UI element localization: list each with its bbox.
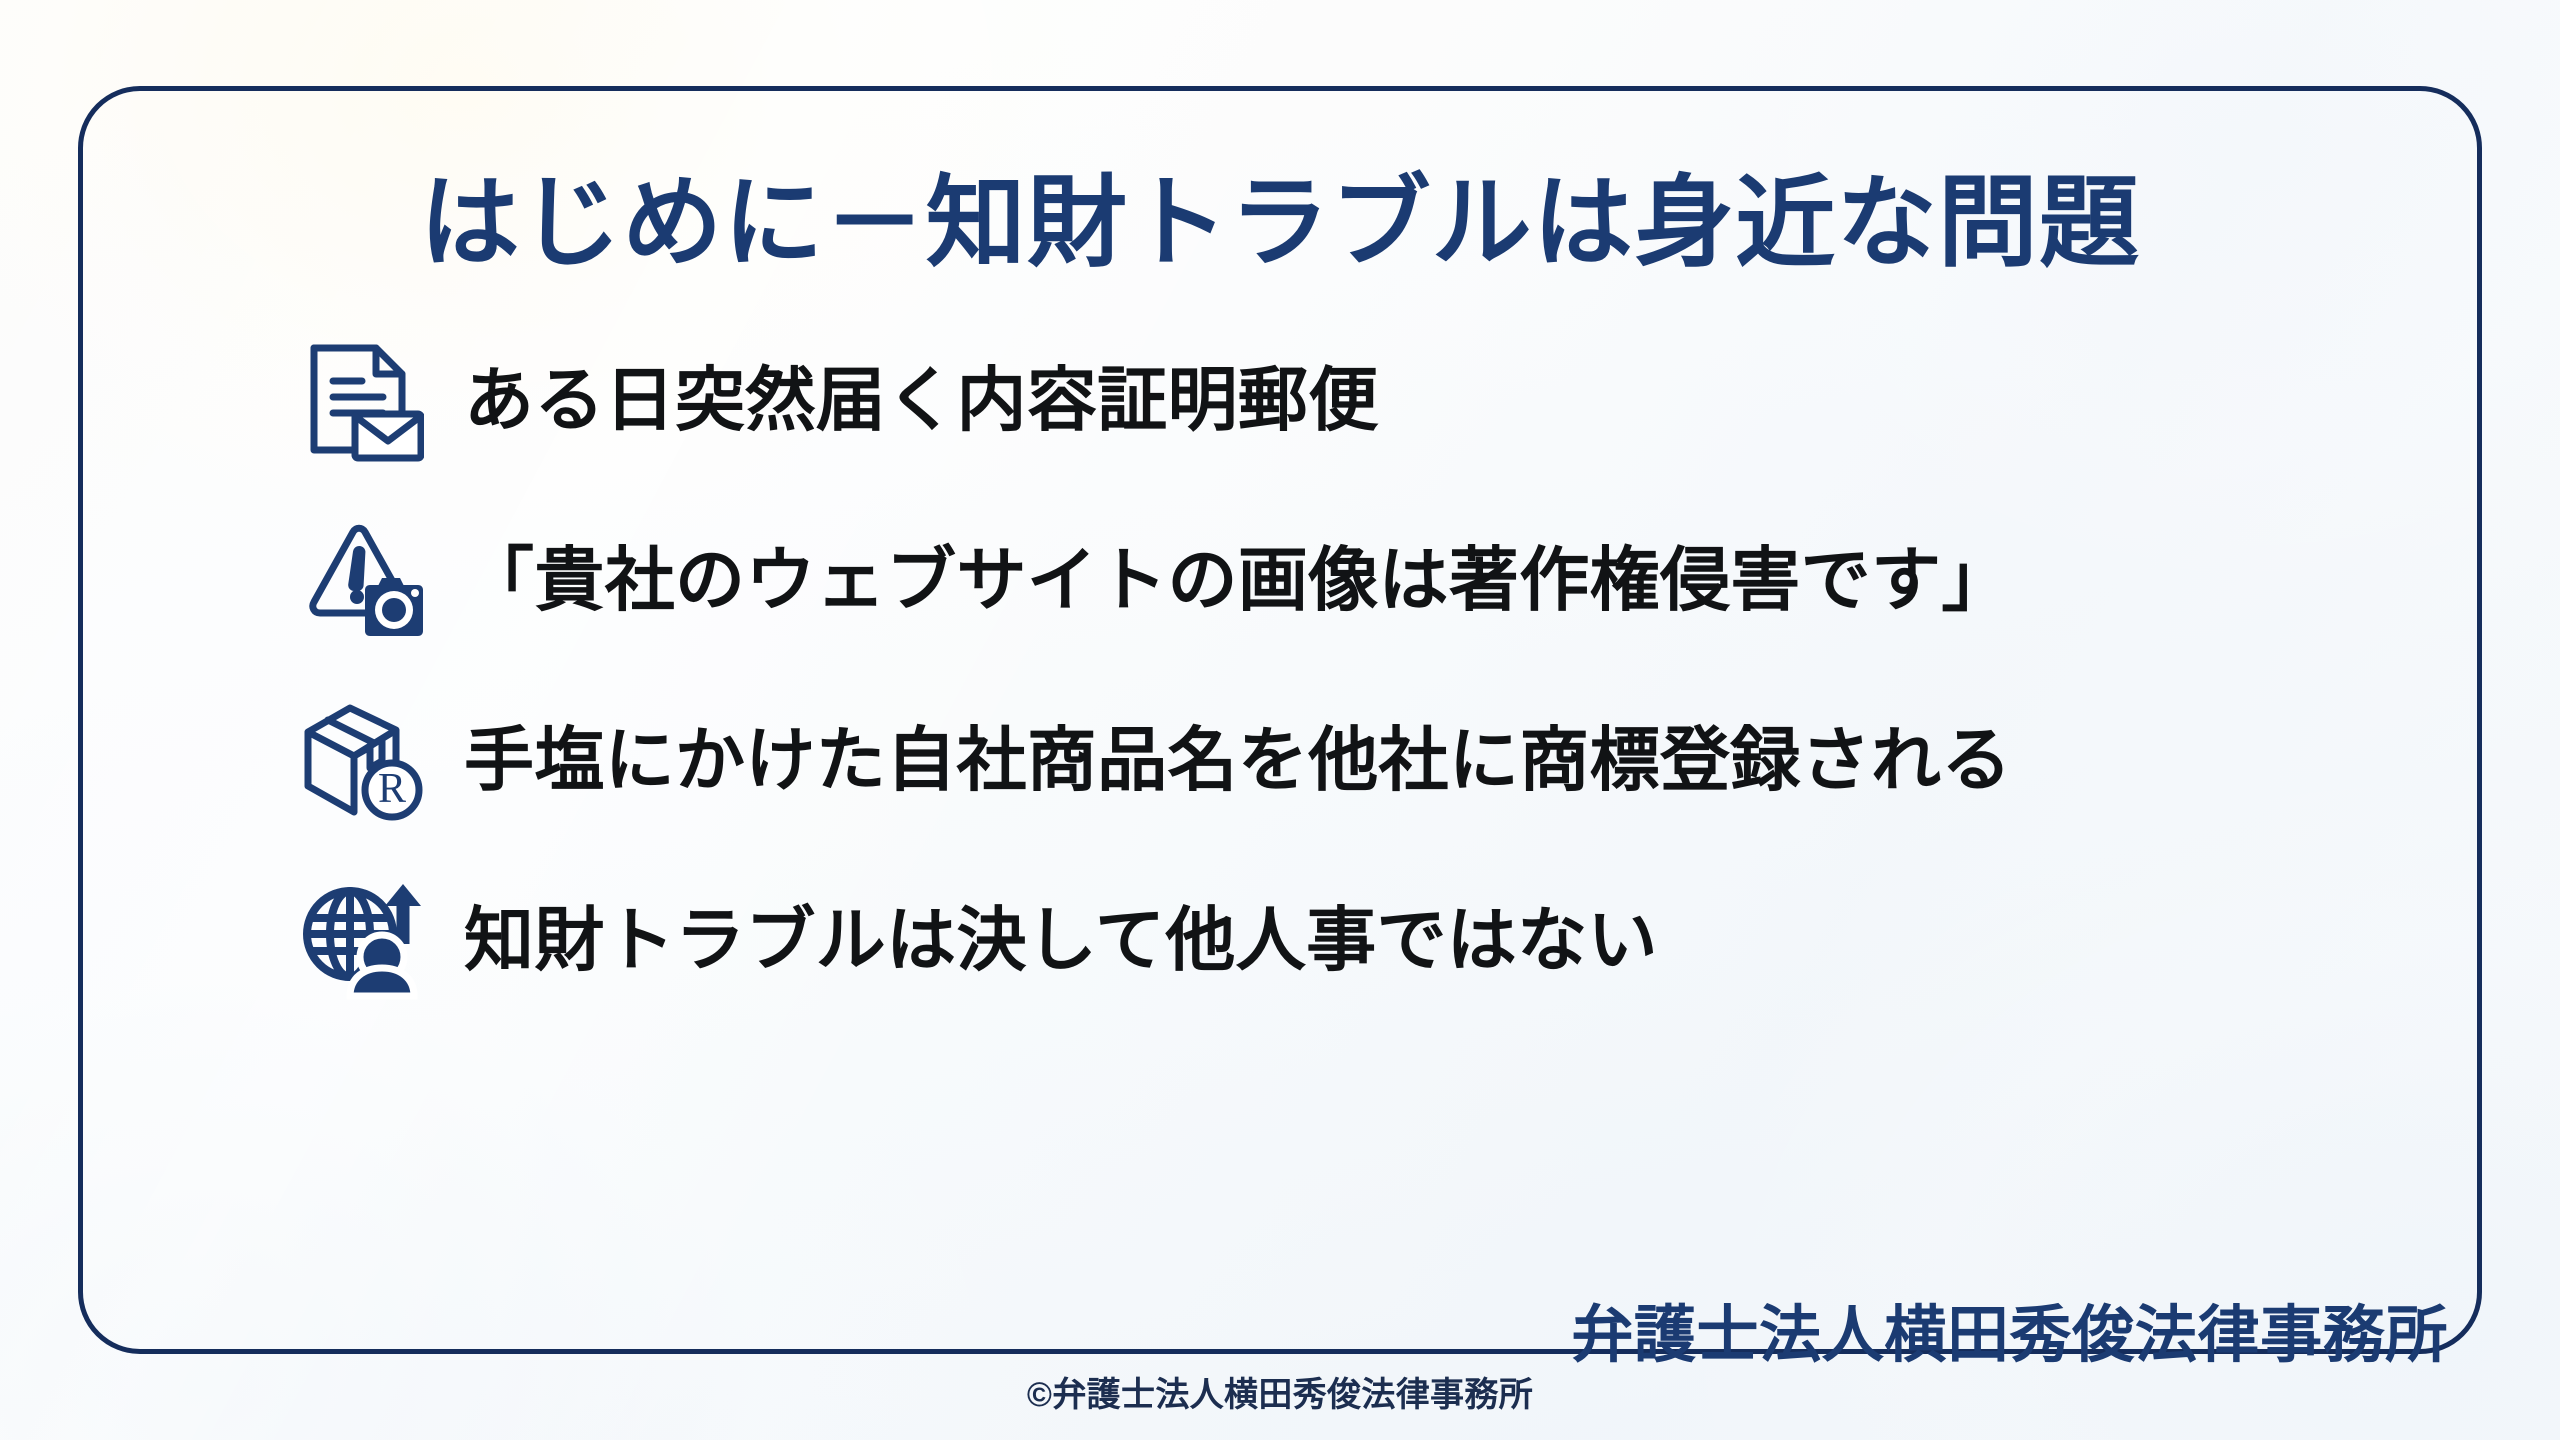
svg-text:R: R bbox=[378, 766, 406, 812]
list-item: R 手塩にかけた自社商品名を他社に商標登録される bbox=[296, 678, 2306, 842]
list-item-label: 「貴社のウェブサイトの画像は著作権侵害です」 bbox=[464, 542, 2306, 619]
globe-person-arrow-icon bbox=[296, 874, 428, 1006]
list-item-label: ある日突然届く内容証明郵便 bbox=[464, 362, 2306, 439]
list-item: 知財トラブルは決して他人事ではない bbox=[296, 858, 2306, 1022]
list-item: ある日突然届く内容証明郵便 bbox=[296, 318, 2306, 482]
slide-canvas: はじめに－知財トラブルは身近な問題 ある日突然届く内容証明郵便 bbox=[0, 0, 2560, 1440]
page-title: はじめに－知財トラブルは身近な問題 bbox=[0, 171, 2560, 276]
document-envelope-icon bbox=[296, 334, 428, 466]
list-item: 「貴社のウェブサイトの画像は著作権侵害です」 bbox=[296, 498, 2306, 662]
list-item-label: 手塩にかけた自社商品名を他社に商標登録される bbox=[464, 722, 2306, 799]
copyright-notice: ©弁護士法人横田秀俊法律事務所 bbox=[0, 1367, 2560, 1416]
warning-camera-icon bbox=[296, 514, 428, 646]
firm-signature: 弁護士法人横田秀俊法律事務所 bbox=[1571, 1284, 2448, 1374]
package-registered-trademark-icon: R bbox=[296, 694, 428, 826]
list-item-label: 知財トラブルは決して他人事ではない bbox=[464, 902, 2306, 979]
bullet-list: ある日突然届く内容証明郵便 「貴社のウェブサイトの画像は著作権侵害です」 bbox=[296, 318, 2306, 1038]
